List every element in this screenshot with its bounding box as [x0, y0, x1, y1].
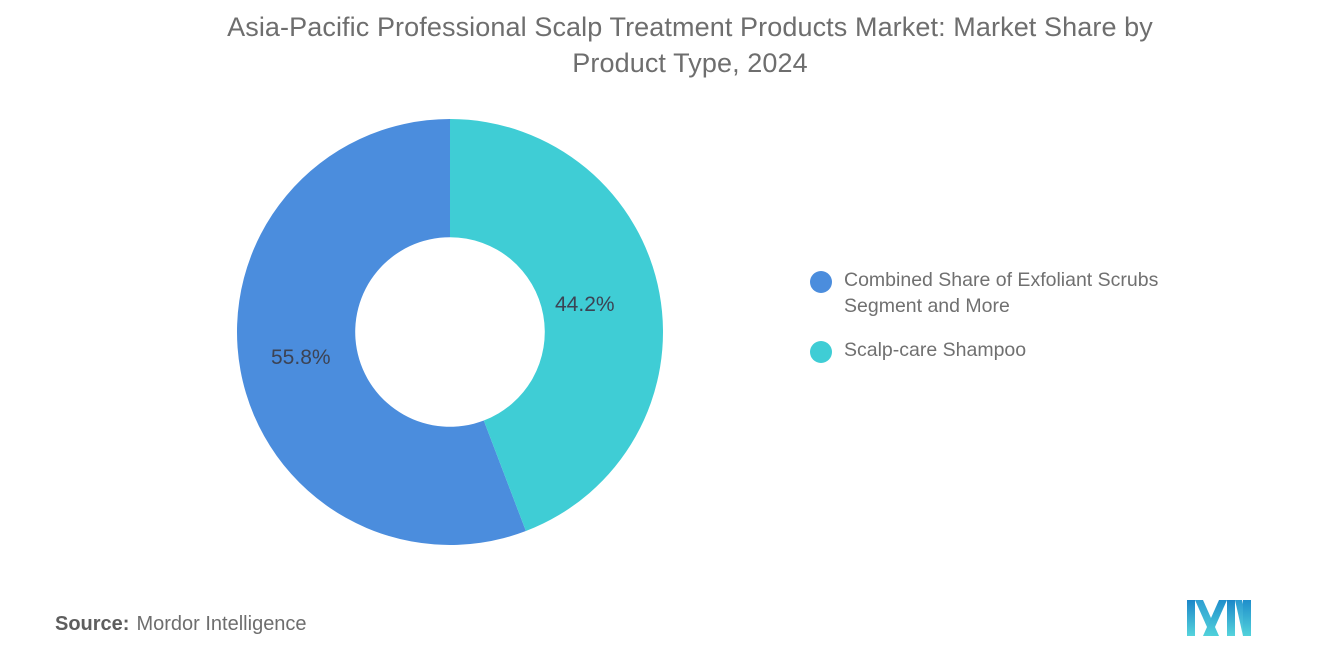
page-title: Asia-Pacific Professional Scalp Treatmen… — [160, 10, 1220, 82]
donut-chart: 55.8% 44.2% — [237, 119, 663, 545]
donut-slice-label-scalp-care-shampoo: 44.2% — [555, 293, 615, 317]
legend-swatch-teal-icon — [810, 341, 832, 363]
legend-item-scalp-care-shampoo[interactable]: Scalp-care Shampoo — [810, 338, 1240, 364]
donut-chart-svg — [237, 119, 663, 545]
source-attribution: Source:Mordor Intelligence — [55, 613, 307, 636]
mordor-intelligence-logo-icon — [1186, 598, 1252, 638]
chart-legend: Combined Share of Exfoliant Scrubs Segme… — [810, 268, 1240, 382]
legend-item-combined-share[interactable]: Combined Share of Exfoliant Scrubs Segme… — [810, 268, 1240, 320]
legend-item-label: Combined Share of Exfoliant Scrubs Segme… — [844, 268, 1216, 320]
donut-slice-label-combined-share: 55.8% — [271, 346, 331, 370]
logo-svg — [1186, 598, 1252, 638]
legend-swatch-blue-icon — [810, 271, 832, 293]
source-label: Source: — [55, 613, 129, 635]
source-value: Mordor Intelligence — [136, 613, 306, 635]
legend-item-label: Scalp-care Shampoo — [844, 338, 1026, 364]
